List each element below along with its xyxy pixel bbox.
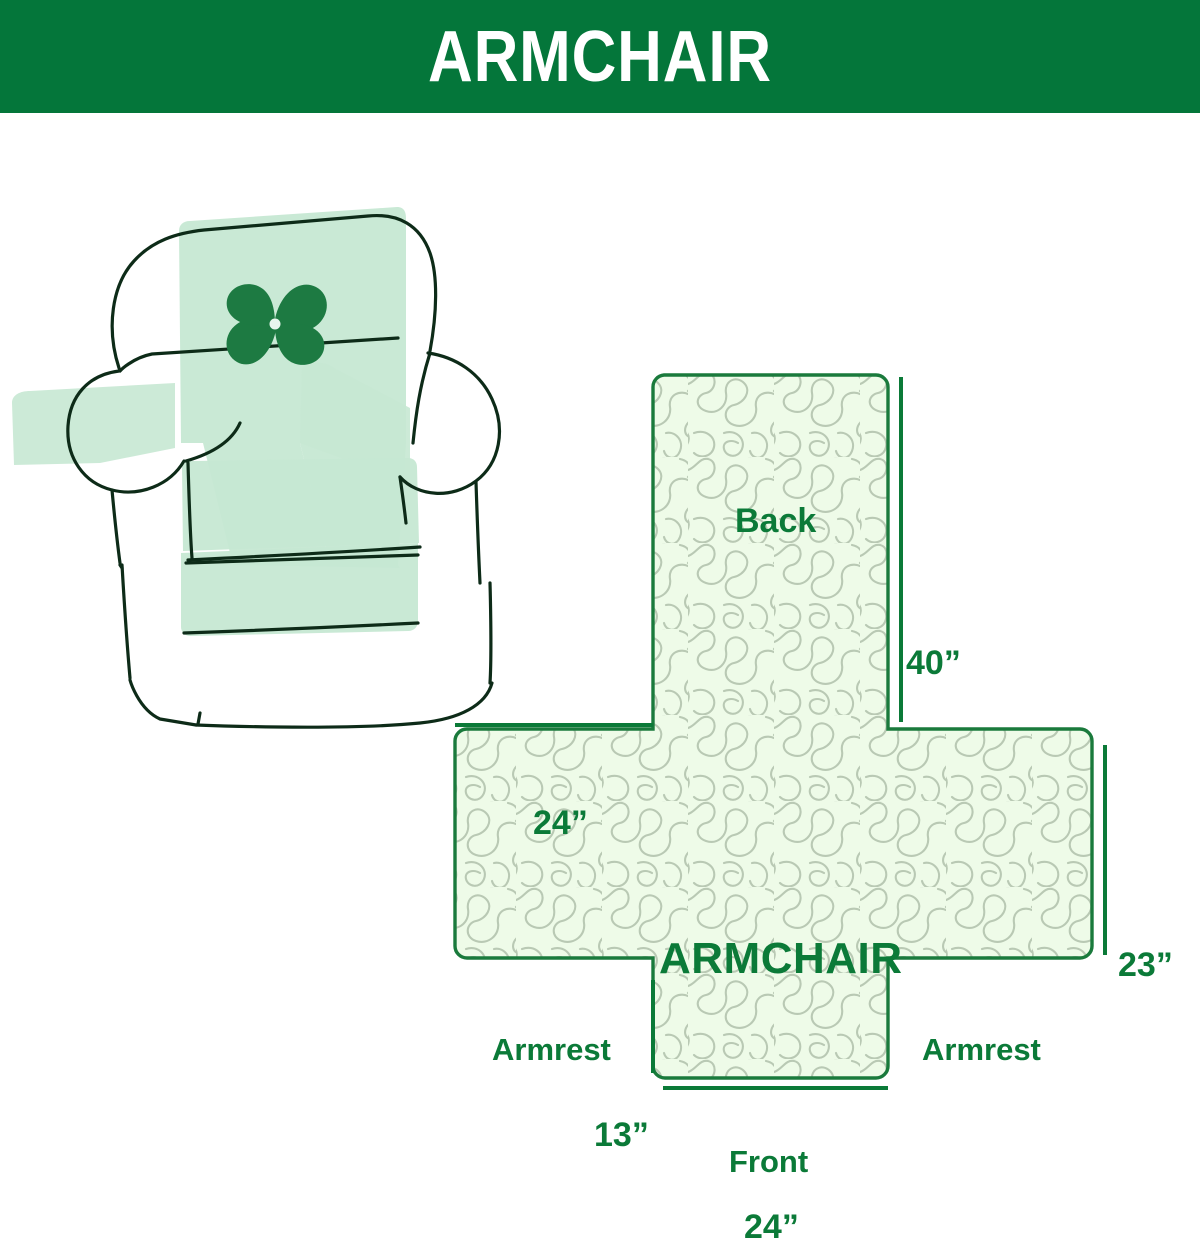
panel-label-front: Front — [729, 1144, 808, 1180]
page-title: ARMCHAIR — [428, 21, 772, 93]
cover-center-label: ARMCHAIR — [659, 934, 903, 984]
dimension-label-center-height: 23” — [1118, 946, 1173, 985]
panel-label-armrest-right: Armrest — [922, 1032, 1041, 1068]
panel-label-armrest-left: Armrest — [492, 1032, 611, 1068]
diagram-canvas: Back ARMCHAIR Armrest Armrest Front 40” … — [0, 113, 1200, 1200]
dimension-label-front-width: 24” — [744, 1208, 799, 1247]
header-banner: ARMCHAIR — [0, 0, 1200, 113]
panel-label-back: Back — [735, 502, 816, 541]
dimension-label-front-height: 13” — [594, 1116, 649, 1155]
dimension-label-back-height: 40” — [906, 644, 961, 683]
dimension-label-armrest-width: 24” — [533, 804, 588, 843]
